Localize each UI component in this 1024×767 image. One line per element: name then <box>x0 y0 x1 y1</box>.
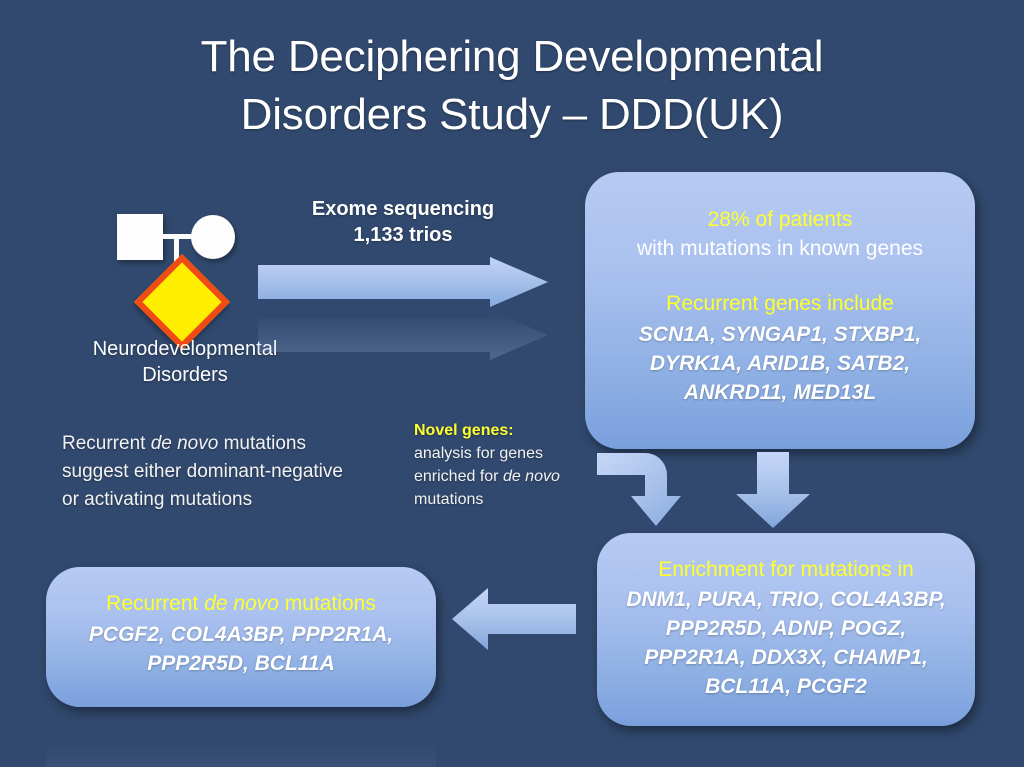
enrichment-headline: Enrichment for mutations in <box>615 555 957 584</box>
right-arrow-icon <box>258 257 548 307</box>
right-arrow-reflection <box>258 310 548 360</box>
recurrent-genes-line-1: PCGF2, COL4A3BP, PPP2R1A, <box>64 620 418 649</box>
recurrent-genes-line-2: PPP2R5D, BCL11A <box>64 649 418 678</box>
slide-canvas: The Deciphering Developmental Disorders … <box>0 0 1024 767</box>
enrichment-genes-line-3: PPP2R1A, DDX3X, CHAMP1, <box>615 643 957 672</box>
novel-genes-italic-1: de novo <box>503 468 560 485</box>
pedigree-caption-line-2: Disorders <box>40 362 330 388</box>
recurrent-box-reflection: Recurrent de novo mutations PCGF2, COL4A… <box>46 713 436 767</box>
mother-circle-icon <box>191 215 235 259</box>
recurrent-headline-part-1: Recurrent <box>106 592 204 615</box>
interpretation-part-1: Recurrent <box>62 433 151 454</box>
down-arrow-icon <box>736 452 810 528</box>
known-genes-headline-rest: with mutations in known genes <box>603 234 957 263</box>
enrichment-genes-line-4: BCL11A, PCGF2 <box>615 672 957 701</box>
exome-label-line-1: Exome sequencing <box>258 196 548 222</box>
known-genes-list: SCN1A, SYNGAP1, STXBP1, DYRK1A, ARID1B, … <box>603 320 957 407</box>
enrichment-genes-line-2: PPP2R5D, ADNP, POGZ, <box>615 614 957 643</box>
known-genes-line-3: ANKRD11, MED13L <box>603 378 957 407</box>
title-line-2: Disorders Study – DDD(UK) <box>0 86 1024 144</box>
recurrent-genes-list: PCGF2, COL4A3BP, PPP2R1A, PPP2R5D, BCL11… <box>64 620 418 678</box>
recurrent-genes-subhead: Recurrent genes include <box>603 289 957 318</box>
enrichment-box: Enrichment for mutations in DNM1, PURA, … <box>597 533 975 726</box>
recurrent-denovo-box: Recurrent de novo mutations PCGF2, COL4A… <box>46 567 436 707</box>
exome-step-label: Exome sequencing 1,133 trios <box>258 196 548 248</box>
title-line-1: The Deciphering Developmental <box>201 32 824 81</box>
enrichment-genes-line-1: DNM1, PURA, TRIO, COL4A3BP, <box>615 585 957 614</box>
exome-label-line-2: 1,133 trios <box>258 222 548 248</box>
recurrent-headline-italic: de novo <box>204 592 279 615</box>
left-arrow-icon <box>452 588 576 650</box>
known-genes-line-1: SCN1A, SYNGAP1, STXBP1, <box>603 320 957 349</box>
known-genes-headline: 28% of patients with mutations in known … <box>603 205 957 263</box>
novel-genes-heading: Novel genes: <box>414 419 604 442</box>
father-square-icon <box>117 214 163 260</box>
recurrent-headline: Recurrent de novo mutations <box>64 589 418 618</box>
interpretation-text: Recurrent de novo mutations suggest eith… <box>62 430 362 514</box>
interpretation-italic-1: de novo <box>151 433 219 454</box>
recurrent-headline-part-2: mutations <box>279 592 376 615</box>
elbow-arrow-icon <box>597 448 693 528</box>
novel-genes-note: Novel genes: analysis for genes enriched… <box>414 419 604 511</box>
known-genes-box: 28% of patients with mutations in known … <box>585 172 975 449</box>
known-genes-percent: 28% of patients <box>708 208 853 231</box>
novel-genes-part-2: mutations <box>414 491 483 508</box>
enrichment-box-reflection: Enrichment for mutations in DNM1, PURA, … <box>597 732 975 767</box>
known-genes-line-2: DYRK1A, ARID1B, SATB2, <box>603 349 957 378</box>
trio-pedigree-icon <box>100 200 270 340</box>
page-title: The Deciphering Developmental Disorders … <box>0 28 1024 144</box>
enrichment-genes-list: DNM1, PURA, TRIO, COL4A3BP, PPP2R5D, ADN… <box>615 585 957 701</box>
